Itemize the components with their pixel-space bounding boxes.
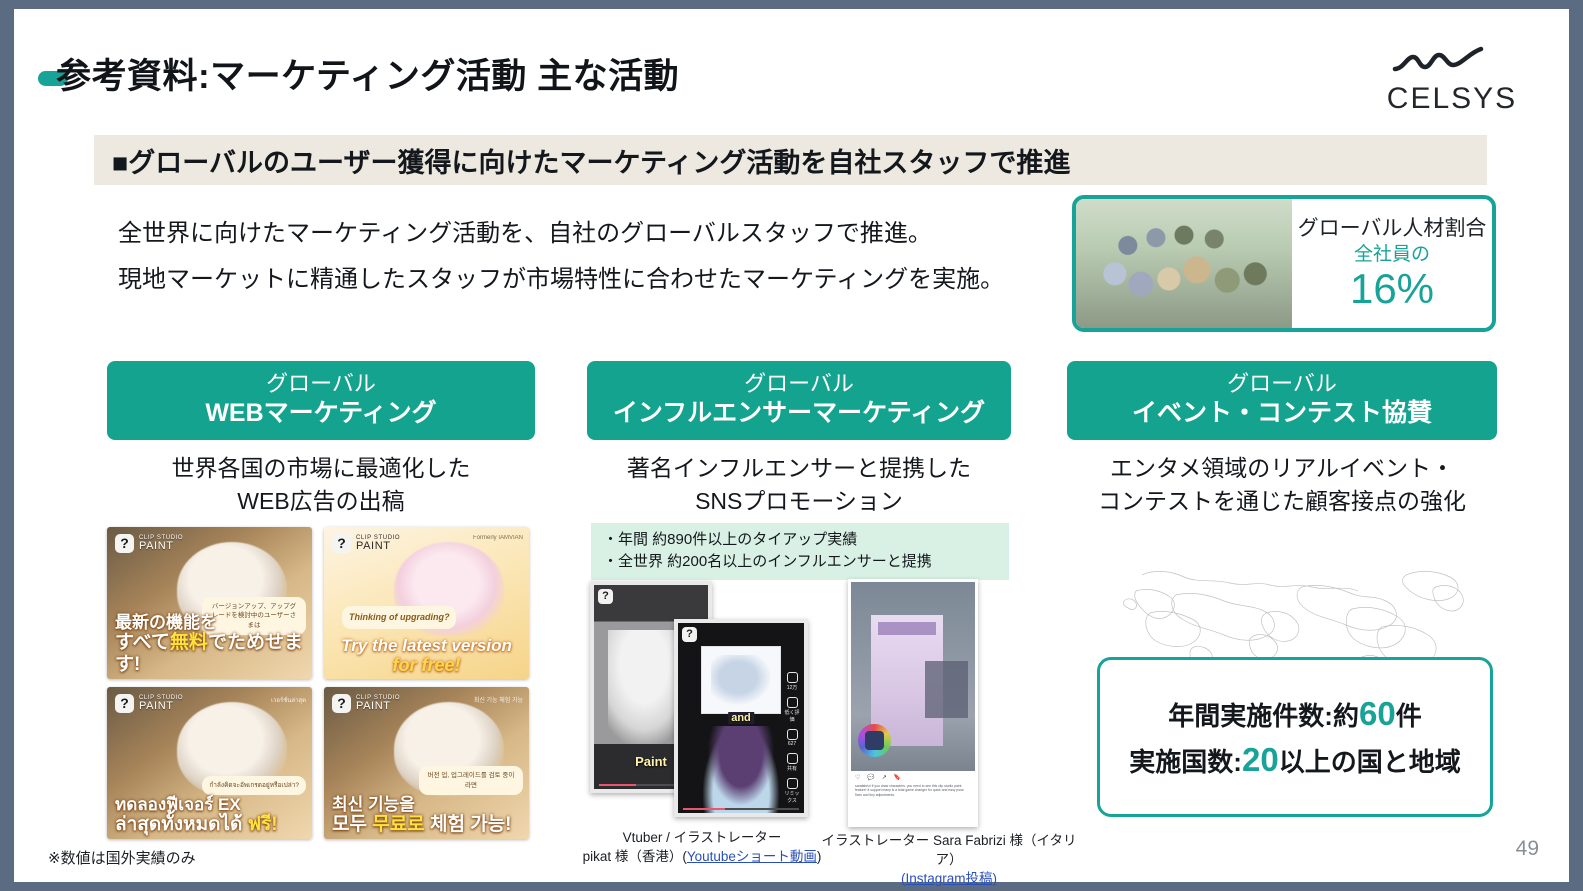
ad-bubble-text: กำลังคิดจะอัพเกรดอยู่หรือเปล่า?: [202, 776, 306, 795]
ad-copy-highlight: ฟรี!: [248, 814, 278, 835]
section-banner-text: ■グローバルのユーザー獲得に向けたマーケティング活動を自社スタッフで推進: [94, 141, 1070, 180]
event-country-count: 20: [1242, 741, 1279, 778]
column-web-marketing: グローバル WEBマーケティング 世界各国の市場に最適化した WEB広告の出稿: [107, 361, 535, 517]
ad-creative-english: ? CLIP STUDIO PAINT Formerly IAMVIAN Thi…: [324, 527, 529, 679]
comment-count: 627: [783, 741, 801, 747]
like-icon[interactable]: [787, 672, 798, 683]
bookmark-icon[interactable]: 🔖: [894, 774, 901, 781]
share-icon[interactable]: ↗: [882, 774, 887, 781]
remix-icon[interactable]: [787, 778, 798, 789]
dislike-icon[interactable]: [787, 697, 798, 708]
footnote: ※数値は国外実績のみ: [48, 847, 196, 868]
column-2-description: 著名インフルエンサーと提携した SNSプロモーション: [587, 452, 1011, 516]
clip-studio-icon: ?: [115, 694, 134, 713]
celsys-logo: CELSYS: [1377, 45, 1527, 114]
caption-sara-fabrizi: イラストレーター Sara Fabrizi 様（イタリア） (Instagram…: [814, 832, 1084, 889]
ad-corner-note: Formerly IAMVIAN: [473, 535, 523, 541]
column-2-header-line1: グローバル: [593, 371, 1005, 398]
video-caption-word: Paint: [635, 754, 667, 769]
column-2-header: グローバル インフルエンサーマーケティング: [587, 361, 1011, 440]
ad-brand-big: PAINT: [356, 541, 400, 552]
web-ad-gallery: ? CLIP STUDIO PAINT バージョンアップ、アップグレードを検討中…: [107, 527, 539, 839]
heart-icon[interactable]: ♡: [855, 774, 860, 781]
video-action-rail: 12万 低く評価 627 共有 リミックス: [783, 672, 801, 810]
page-number: 49: [1516, 837, 1539, 861]
like-count: 12万: [783, 684, 801, 691]
share-icon[interactable]: [787, 753, 798, 764]
intro-paragraph: 全世界に向けたマーケティング活動を、自社のグローバルスタッフで推進。 現地マーケ…: [118, 222, 1004, 314]
ad-brand-big: PAINT: [139, 701, 183, 712]
global-staff-photo: [1076, 199, 1292, 328]
column-3-header-line1: グローバル: [1073, 371, 1491, 398]
caption-pikat-line2: pikat 様（香港）(Youtubeショート動画): [582, 848, 822, 867]
ad-copy: ทดลองฟีเจอร์ EX ล่าสุดทั้งหมดได้ ฟรี!: [107, 795, 312, 835]
instagram-post-image: [851, 594, 975, 771]
event-annual-count: 60: [1359, 695, 1396, 732]
global-talent-card: グローバル人材割合 全社員の 16%: [1072, 195, 1496, 332]
ad-copy-row2: すべて無料でためせます!: [115, 632, 304, 675]
influencer-stat-1: ・年間 約890件以上のタイアップ実績: [603, 529, 999, 551]
logo-wordmark: CELSYS: [1377, 84, 1527, 114]
color-wheel-icon: [858, 724, 890, 756]
column-2-desc-line2: SNSプロモーション: [587, 485, 1011, 517]
video-sketch-thumb: [701, 646, 782, 714]
ad-copy-row2: 모두 무료로 체험 가능!: [332, 814, 521, 835]
canvas-toolbar: [878, 622, 936, 635]
ad-copy-highlight: 無料: [170, 632, 208, 653]
clip-studio-icon: ?: [332, 534, 351, 553]
ad-copy: Try the latest version for free!: [324, 636, 529, 675]
column-2-desc-line1: 著名インフルエンサーと提携した: [587, 452, 1011, 484]
canvas-panel: [925, 661, 967, 718]
column-1-desc-line2: WEB広告の出稿: [107, 485, 535, 517]
influencer-stats-box: ・年間 約890件以上のタイアップ実績 ・全世界 約200名以上のインフルエンサ…: [591, 523, 1009, 580]
talent-ratio-label: グローバル人材割合: [1298, 216, 1487, 242]
influencer-stat-2: ・全世界 約200名以上のインフルエンサーと提携: [603, 551, 999, 573]
column-influencer-marketing: グローバル インフルエンサーマーケティング 著名インフルエンサーと提携した SN…: [587, 361, 1011, 517]
column-3-desc-line1: エンタメ領域のリアルイベント・: [1067, 452, 1497, 484]
clip-studio-icon: ?: [115, 534, 134, 553]
caption-pikat: Vtuber / イラストレーター pikat 様（香港）(Youtubeショー…: [582, 829, 822, 867]
slide-canvas: 参考資料:マーケティング活動 主な活動 CELSYS ■グローバルのユーザー獲得…: [14, 9, 1569, 882]
ad-creative-korean: ? CLIP STUDIO PAINT 최신 기능 체험 가능 버전 업, 업그…: [324, 687, 529, 839]
ad-creative-japanese: ? CLIP STUDIO PAINT バージョンアップ、アップグレードを検討中…: [107, 527, 312, 679]
ad-copy-row1: Try the latest version: [332, 636, 521, 655]
ad-brand-big: PAINT: [356, 701, 400, 712]
comment-icon[interactable]: [787, 729, 798, 740]
ad-copy-row2: ล่าสุดทั้งหมดได้ ฟรี!: [115, 814, 304, 835]
column-event-sponsorship: グローバル イベント・コンテスト協賛 エンタメ領域のリアルイベント・ コンテスト…: [1067, 361, 1497, 517]
talent-ratio-value: 16%: [1350, 267, 1434, 311]
clip-studio-icon: ?: [332, 694, 351, 713]
youtube-short-link[interactable]: Youtubeショート動画: [687, 849, 817, 864]
intro-line-1: 全世界に向けたマーケティング活動を、自社のグローバルスタッフで推進。: [118, 222, 1004, 246]
comment-icon[interactable]: 💬: [867, 774, 874, 781]
influencer-media-gallery: ? Paint ? and 12万 低く評価 627: [586, 579, 996, 829]
ad-copy-row1: 最新の機能を: [115, 613, 304, 632]
ad-copy: 최신 기능을 모두 무료로 체험 가능!: [324, 795, 529, 835]
ad-corner-note: 최신 기능 체험 가능: [474, 695, 523, 704]
caption-pikat-line1: Vtuber / イラストレーター: [582, 829, 822, 848]
video-progress-bar: [683, 808, 799, 810]
ad-brand-logo: ? CLIP STUDIO PAINT: [332, 534, 400, 553]
talent-ratio-sublabel: 全社員の: [1354, 244, 1430, 267]
short-video-thumb-2: ? and 12万 低く評価 627 共有 リミックス: [674, 619, 808, 817]
video-character-art: [703, 726, 779, 813]
ad-corner-note: เวอร์ชั่นล่าสุด: [271, 695, 306, 705]
caption-sara-line1: イラストレーター Sara Fabrizi 様（イタリア）: [814, 832, 1084, 870]
ad-copy-highlight: 무료로: [372, 814, 424, 835]
column-1-header-line1: グローバル: [113, 371, 529, 398]
section-banner: ■グローバルのユーザー獲得に向けたマーケティング活動を自社スタッフで推進: [94, 135, 1487, 185]
ad-brand-logo: ? CLIP STUDIO PAINT: [332, 694, 400, 713]
instagram-post-thumb: ♡ 💬 ↗ 🔖 sarafabrizi If you draw characte…: [848, 579, 978, 827]
column-3-desc-line2: コンテストを通じた顧客接点の強化: [1067, 485, 1497, 517]
column-2-header-line2: インフルエンサーマーケティング: [593, 398, 1005, 429]
ad-brand-big: PAINT: [139, 541, 183, 552]
brush-stroke-icon: [1377, 45, 1527, 79]
ad-copy-row1: ทดลองฟีเจอร์ EX: [115, 795, 304, 814]
ad-bubble-text: 버전 업, 업그레이드를 검토 중이라면: [419, 766, 523, 795]
ad-brand-logo: ? CLIP STUDIO PAINT: [115, 694, 183, 713]
event-stat-countries: 実施国数:20以上の国と地域: [1129, 741, 1460, 779]
dislike-label: 低く評価: [783, 709, 801, 723]
column-3-description: エンタメ領域のリアルイベント・ コンテストを通じた顧客接点の強化: [1067, 452, 1497, 516]
instagram-post-link[interactable]: (Instagram投稿): [814, 870, 1084, 889]
column-1-description: 世界各国の市場に最適化した WEB広告の出稿: [107, 452, 535, 516]
ad-bubble-text: Thinking of upgrading?: [342, 606, 456, 629]
ad-brand-logo: ? CLIP STUDIO PAINT: [115, 534, 183, 553]
slide-header: 参考資料:マーケティング活動 主な活動 CELSYS: [14, 33, 1569, 103]
clip-studio-icon: ?: [598, 589, 613, 604]
event-stat-annual: 年間実施件数:約60件: [1168, 695, 1421, 733]
instagram-action-icons: ♡ 💬 ↗ 🔖: [855, 774, 971, 781]
ad-creative-thai: ? CLIP STUDIO PAINT เวอร์ชั่นล่าสุด กำลั…: [107, 687, 312, 839]
global-talent-info: グローバル人材割合 全社員の 16%: [1292, 199, 1492, 328]
column-1-header: グローバル WEBマーケティング: [107, 361, 535, 440]
ad-copy-row1: 최신 기능을: [332, 795, 521, 814]
column-1-header-line2: WEBマーケティング: [113, 398, 529, 429]
ad-copy: 最新の機能を すべて無料でためせます!: [107, 613, 312, 675]
instagram-post-footer: ♡ 💬 ↗ 🔖 sarafabrizi If you draw characte…: [851, 771, 975, 824]
page-title: 参考資料:マーケティング活動 主な活動: [56, 48, 679, 99]
instagram-post-caption: sarafabrizi If you draw characters, you …: [855, 784, 971, 798]
column-3-header: グローバル イベント・コンテスト協賛: [1067, 361, 1497, 440]
intro-line-2: 現地マーケットに精通したスタッフが市場特性に合わせたマーケティングを実施。: [118, 268, 1004, 292]
remix-label: リミックス: [783, 790, 801, 804]
column-3-header-line2: イベント・コンテスト協賛: [1073, 398, 1491, 429]
share-label: 共有: [783, 765, 801, 772]
column-1-desc-line1: 世界各国の市場に最適化した: [107, 452, 535, 484]
event-stats-box: 年間実施件数:約60件 実施国数:20以上の国と地域: [1097, 657, 1493, 817]
ad-copy-row2: for free!: [332, 655, 521, 675]
video-overlay-word: and: [728, 712, 754, 724]
clip-studio-icon: ?: [682, 627, 697, 642]
